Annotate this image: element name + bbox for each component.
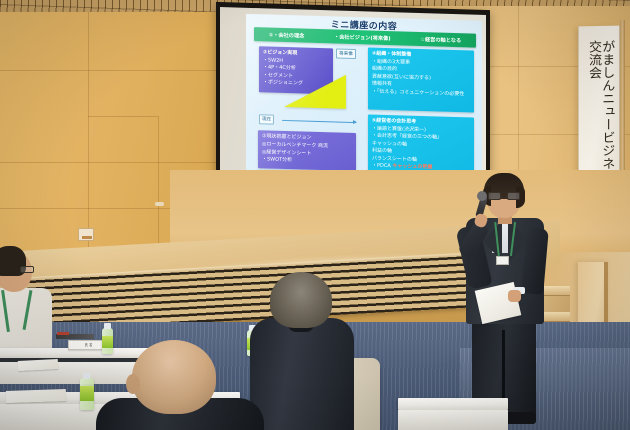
tag-future-state: 将来像 — [336, 48, 356, 59]
tag-current-state: 現在 — [259, 114, 274, 124]
growth-triangle-graphic — [284, 73, 346, 109]
audience-left-lanyard — [4, 290, 30, 334]
speaker-name-badge — [496, 256, 509, 265]
bottle-front — [80, 378, 94, 410]
blue-box-item-3: ◎経営デザインシート — [262, 149, 311, 156]
blue-box-item-4: ・SWOT分析 — [262, 157, 292, 164]
cyan-top-item-4: 情報共有 — [372, 81, 392, 88]
table-book-red — [57, 332, 69, 335]
cyan-bottom-item-6: ・PDCA — [372, 163, 391, 170]
cyan-top-item-5: ・「伝える」コミュニケーションの必要性 — [372, 88, 464, 97]
speaker-lanyard — [494, 222, 516, 258]
blue-box-item-1: ②現状把握とビジョン — [262, 133, 311, 140]
speaker-shoe-right — [506, 412, 536, 424]
audience-front-head — [132, 340, 216, 414]
audience-left-eyeglasses — [20, 266, 34, 273]
cyan-top-item-3: 貢献意欲(互いに協力する) — [372, 73, 431, 81]
bottle-back-left — [102, 328, 113, 354]
speaker-hand-right — [508, 290, 521, 302]
cyan-top-item-1: ・組織の3大要素 — [372, 58, 410, 65]
audience-center-head — [270, 272, 332, 328]
cyan-bottom-item-3: キャッシュの軸 — [372, 140, 407, 147]
purple-box-item-1: ・5W2H — [263, 57, 283, 64]
cyan-top-item-2: 組織の目的 — [372, 66, 397, 73]
screen-surface: ミニ講座の内容 ①・会社の理念 ・会社ビジョン(将来像) ☆経営の軸となる ②ビ… — [220, 7, 486, 197]
door-handle — [155, 202, 164, 206]
purple-box-item-2: ・4P・4C分析 — [263, 65, 296, 72]
table-paper-left — [18, 359, 58, 371]
cyan-bottom-item-5: バランスシートの軸 — [372, 155, 417, 162]
seminar-photo: ミニ講座の内容 ①・会社の理念 ・会社ビジョン(将来像) ☆経営の軸となる ②ビ… — [0, 0, 630, 430]
green-band-item-3: ☆経営の軸となる — [419, 35, 462, 43]
green-band-item-2: ・会社ビジョン(将来像) — [333, 33, 392, 42]
microphone-head — [477, 191, 487, 201]
cyan-bottom-item-1: ・論語と算盤(渋沢栄一) — [372, 125, 426, 133]
slide-blue-box: ②現状把握とビジョン ◎ローカルベンチマーク 商流 ◎経営デザインシート ・SW… — [258, 130, 356, 171]
green-band-item-1: ①・会社の理念 — [268, 31, 306, 39]
timeline-arrow-icon — [282, 120, 356, 123]
audience-center-suit — [250, 318, 354, 430]
table-front-right-top — [398, 398, 508, 410]
audience-front-ear — [126, 374, 140, 394]
wall-outlet — [78, 228, 94, 241]
cyan-bottom-item-4: 利益の軸 — [372, 148, 392, 155]
slide-cyan-box-top: ④組織・体制整備 ・組織の3大要素 組織の目的 貢献意欲(互いに協力する) 情報… — [368, 47, 474, 112]
blue-box-item-2: ◎ローカルベンチマーク 商流 — [262, 141, 328, 149]
table-front-right-skirt — [398, 410, 508, 430]
speaker-eyeglasses — [488, 192, 520, 200]
table-paper-front — [6, 389, 66, 403]
